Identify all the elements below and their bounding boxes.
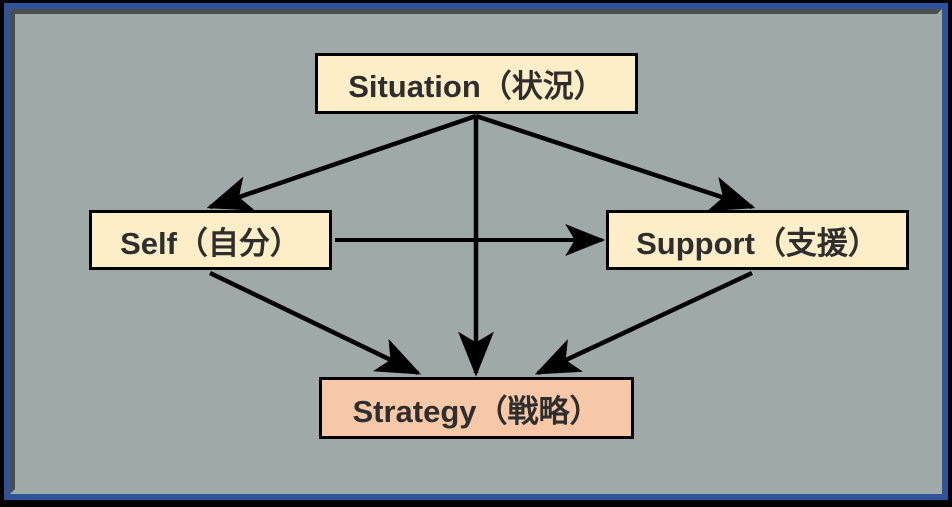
node-situation-label: Situation（状況） xyxy=(348,61,605,106)
node-self-label: Self（自分） xyxy=(120,218,301,263)
node-support[interactable]: Support（支援） xyxy=(606,210,909,270)
node-strategy-label: Strategy（戦略） xyxy=(352,386,600,431)
edge-self-to-strategy xyxy=(210,273,418,373)
edge-situation-to-support xyxy=(476,116,752,207)
diagram-canvas: Situation（状況） Self（自分） Support（支援） Strat… xyxy=(10,9,942,494)
node-strategy[interactable]: Strategy（戦略） xyxy=(319,377,634,439)
edge-situation-to-self xyxy=(210,116,476,207)
slide-frame: Situation（状況） Self（自分） Support（支援） Strat… xyxy=(4,3,948,500)
node-self[interactable]: Self（自分） xyxy=(89,210,332,270)
node-situation[interactable]: Situation（状況） xyxy=(315,53,638,114)
edge-support-to-strategy xyxy=(538,273,752,373)
node-support-label: Support（支援） xyxy=(636,218,879,263)
